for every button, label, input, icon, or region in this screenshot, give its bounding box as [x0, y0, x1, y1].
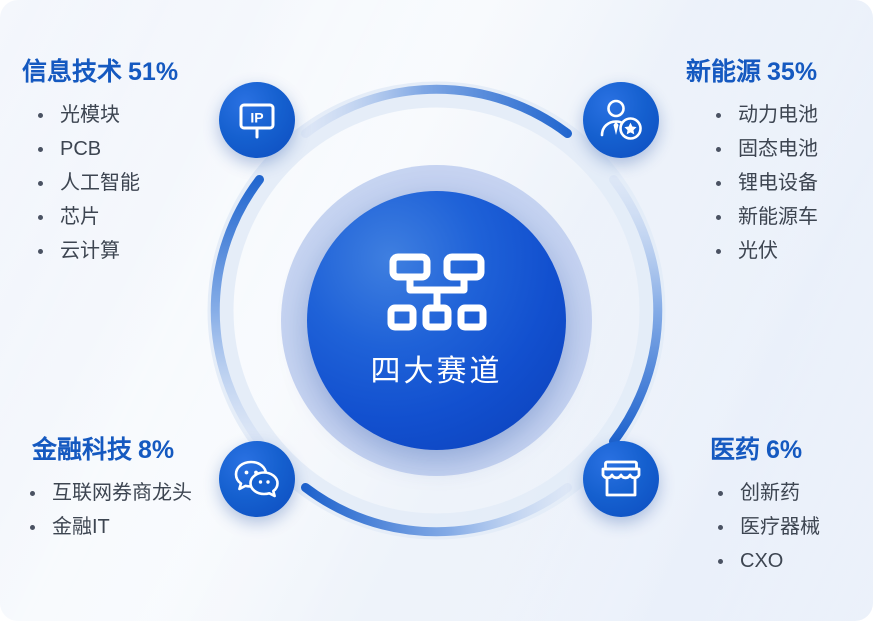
quadrant-energy-percent: 35% [767, 58, 817, 86]
person-star-icon [599, 99, 643, 141]
list-item: 动力电池 [708, 98, 818, 132]
quadrant-pharma-percent: 6% [766, 436, 802, 464]
list-item: 互联网券商龙头 [22, 476, 192, 510]
node-pharma[interactable] [583, 441, 659, 517]
list-item: 锂电设备 [708, 166, 818, 200]
quadrant-pharma: 医药6% 创新药 医疗器械 CXO [706, 430, 820, 578]
quadrant-energy: 新能源35% 动力电池 固态电池 锂电设备 新能源车 光伏 [686, 52, 818, 268]
quadrant-fintech-percent: 8% [138, 436, 174, 464]
list-item: 芯片 [30, 200, 178, 234]
list-item: 云计算 [30, 234, 178, 268]
node-energy[interactable] [583, 82, 659, 158]
list-item: CXO [710, 544, 820, 578]
svg-text:IP: IP [250, 110, 263, 126]
list-item: 医疗器械 [710, 510, 820, 544]
infographic-card: 四大赛道 IP [0, 0, 873, 621]
quadrant-fintech: 金融科技8% 互联网券商龙头 金融IT [22, 430, 192, 544]
node-it[interactable]: IP [219, 82, 295, 158]
quadrant-energy-name: 新能源 [686, 58, 761, 86]
quadrant-it-percent: 51% [128, 58, 178, 86]
storefront-icon [600, 459, 642, 499]
center-hub[interactable]: 四大赛道 [307, 191, 566, 450]
quadrant-it-list: 光模块 PCB 人工智能 芯片 云计算 [30, 98, 178, 268]
quadrant-it-name: 信息技术 [22, 58, 122, 86]
quadrant-it: 信息技术51% 光模块 PCB 人工智能 芯片 云计算 [22, 52, 178, 268]
chat-bubbles-icon [234, 459, 280, 499]
quadrant-fintech-name: 金融科技 [32, 436, 132, 464]
center-label: 四大赛道 [371, 346, 503, 390]
list-item: 人工智能 [30, 166, 178, 200]
list-item: 固态电池 [708, 132, 818, 166]
org-chart-icon [381, 252, 493, 332]
quadrant-fintech-title: 金融科技8% [32, 430, 192, 466]
list-item: 新能源车 [708, 200, 818, 234]
quadrant-energy-list: 动力电池 固态电池 锂电设备 新能源车 光伏 [708, 98, 818, 268]
quadrant-energy-title: 新能源35% [686, 52, 818, 88]
list-item: 光伏 [708, 234, 818, 268]
list-item: 光模块 [30, 98, 178, 132]
list-item: PCB [30, 132, 178, 166]
quadrant-fintech-list: 互联网券商龙头 金融IT [22, 476, 192, 544]
ip-sign-icon: IP [236, 99, 278, 141]
quadrant-pharma-title: 医药6% [710, 430, 820, 466]
quadrant-pharma-list: 创新药 医疗器械 CXO [710, 476, 820, 578]
list-item: 金融IT [22, 510, 192, 544]
list-item: 创新药 [710, 476, 820, 510]
quadrant-pharma-name: 医药 [710, 436, 760, 464]
quadrant-it-title: 信息技术51% [22, 52, 178, 88]
node-fintech[interactable] [219, 441, 295, 517]
